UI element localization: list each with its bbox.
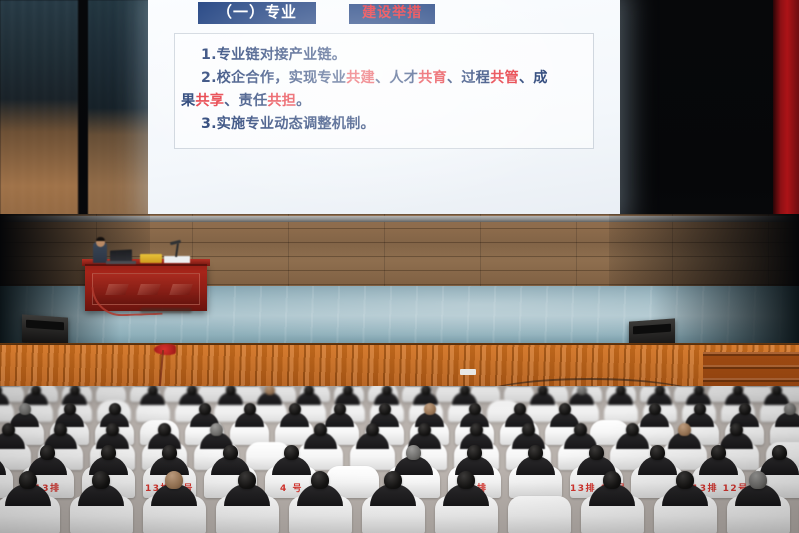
audience-member-head	[162, 445, 177, 460]
audience-member-head	[106, 423, 119, 436]
flower-decoration	[154, 344, 180, 355]
audience-member-head	[109, 403, 121, 415]
podium-ornament	[169, 284, 193, 295]
audience-member-head	[382, 386, 392, 395]
audience-member-head	[676, 471, 694, 489]
slide-topic-badge: 建设举措	[349, 4, 435, 24]
audience-member-head	[649, 403, 661, 415]
slide-line-2b-tail: 。	[296, 93, 310, 109]
slide-line-3: 3.实施专业动态调整机制。	[181, 113, 581, 136]
audience-member-head	[711, 445, 726, 460]
audience-member-head	[40, 445, 55, 460]
audience-member-head	[334, 403, 346, 415]
back-wall-shadow-right	[609, 214, 799, 288]
audience-member-head	[406, 445, 421, 460]
yellow-folder	[140, 254, 162, 263]
audience-member-head	[522, 423, 535, 436]
audience-member-head	[19, 471, 37, 489]
audience-member-head	[366, 423, 379, 436]
audience-member-head	[650, 445, 665, 460]
audience-member-head	[64, 403, 76, 415]
audience-member-head	[577, 386, 587, 395]
cable-tape	[460, 369, 476, 375]
audience-member-head	[54, 423, 67, 436]
audience-member-head	[70, 386, 80, 395]
audience-member-head	[559, 403, 571, 415]
audience-member-head	[210, 423, 223, 436]
audience-member-head	[304, 386, 314, 395]
audience-member-head	[418, 423, 431, 436]
audience-member-head	[223, 445, 238, 460]
audience-member-head	[421, 386, 431, 395]
presenter-hair	[96, 237, 105, 241]
slide-section-badge: （一）专业	[198, 2, 316, 24]
slide-line-2a-prefix: 2.校企合作，实现专业	[201, 70, 346, 86]
slide-highlight-gongyu: 共育	[418, 70, 447, 86]
slide-line-2a-mid2: 、过程	[447, 70, 490, 86]
stage-floor-debris	[140, 308, 192, 313]
audience-member-head	[265, 386, 275, 395]
audience-member-head	[655, 386, 665, 395]
audience-member-head	[31, 386, 41, 395]
audience-member-head	[101, 445, 116, 460]
audience-member-head	[244, 403, 256, 415]
slide-line-2b-prefix: 果	[181, 93, 195, 109]
audience-member-head	[457, 471, 475, 489]
audience-member-head	[311, 471, 329, 489]
audience-member-head	[424, 403, 436, 415]
audience-member-head	[92, 471, 110, 489]
audience-member-head	[158, 423, 171, 436]
slide-highlight-gongdan: 共担	[267, 93, 296, 109]
slide-line-2b: 果共享、责任共担。	[181, 90, 581, 113]
audience-seating: 13排13排 2号4 号13排13排 10号13排 12号	[0, 386, 799, 533]
conference-hall-photo: （一）专业 建设举措 1.专业链对接产业链。 2.校企合作，实现专业共建、人才共…	[0, 0, 799, 533]
slide-content-box: 1.专业链对接产业链。 2.校企合作，实现专业共建、人才共育、过程共管、成 果共…	[174, 33, 594, 149]
monitor-grille	[633, 324, 671, 335]
stage-monitor-left	[22, 314, 68, 345]
audience-member-head	[694, 403, 706, 415]
audience-member-head	[314, 423, 327, 436]
audience-member-head	[289, 403, 301, 415]
audience-member-head	[538, 386, 548, 395]
audience-member-head	[749, 471, 767, 489]
audience-member-head	[19, 403, 31, 415]
slide-line-2a: 2.校企合作，实现专业共建、人才共育、过程共管、成	[181, 67, 581, 90]
audience-member-head	[384, 471, 402, 489]
audience-member-head	[460, 386, 470, 395]
audience-member-head	[148, 386, 158, 395]
audience-member-head	[678, 423, 691, 436]
audience-member-head	[187, 386, 197, 395]
audience-chair	[508, 496, 571, 533]
audience-member-head	[379, 403, 391, 415]
monitor-grille	[26, 320, 64, 331]
audience-member-head	[772, 445, 787, 460]
laptop-base	[106, 261, 136, 264]
audience-member-head	[226, 386, 236, 395]
presentation-slide: （一）专业 建设举措 1.专业链对接产业链。 2.校企合作，实现专业共建、人才共…	[148, 0, 620, 218]
audience-member-head	[784, 403, 796, 415]
audience-member-head	[603, 471, 621, 489]
audience-member-head	[694, 386, 704, 395]
slide-line-2a-tail: 、成	[519, 70, 548, 86]
projection-screen: （一）专业 建设举措 1.专业链对接产业链。 2.校企合作，实现专业共建、人才共…	[148, 0, 620, 218]
slide-line-2b-mid1: 、责任	[224, 93, 267, 109]
audience-member-head	[733, 386, 743, 395]
audience-member-head	[467, 445, 482, 460]
slide-line-1: 1.专业链对接产业链。	[181, 44, 581, 67]
audience-member-head	[739, 403, 751, 415]
audience-member-head	[589, 445, 604, 460]
audience-member-head	[284, 445, 299, 460]
audience-member-head	[165, 471, 183, 489]
audience-member-head	[469, 403, 481, 415]
audience-member-head	[772, 386, 782, 395]
audience-member-head	[470, 423, 483, 436]
audience-member-head	[616, 386, 626, 395]
audience-member-head	[730, 423, 743, 436]
audience-member-head	[2, 423, 15, 436]
slide-line-2a-mid1: 、人才	[375, 70, 418, 86]
audience-member-head	[626, 423, 639, 436]
slide-highlight-gongguan: 共管	[490, 70, 519, 86]
audience-member-head	[574, 423, 587, 436]
slide-highlight-gongjian: 共建	[346, 70, 375, 86]
audience-member-head	[528, 445, 543, 460]
audience-member-head	[343, 386, 353, 395]
audience-member-head	[238, 471, 256, 489]
audience-member-head	[514, 403, 526, 415]
audience-member-head	[199, 403, 211, 415]
slide-highlight-gongxiang: 共享	[195, 93, 224, 109]
